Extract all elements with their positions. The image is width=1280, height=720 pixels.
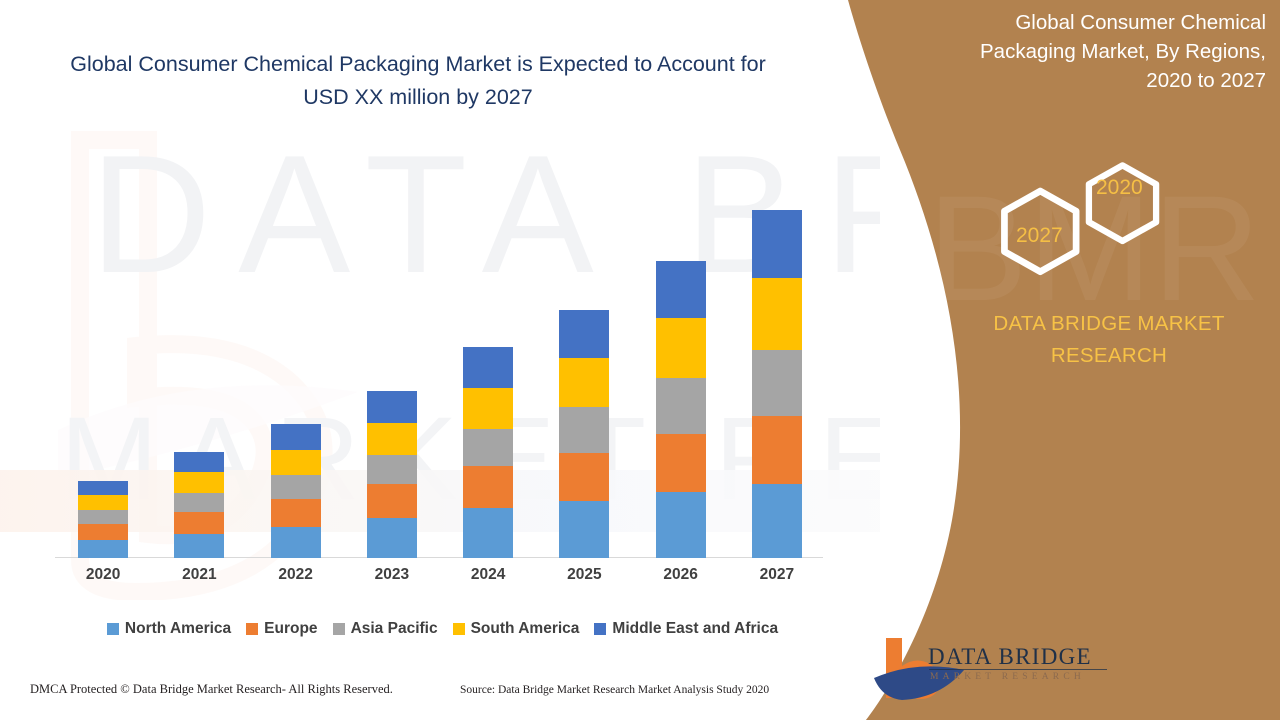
- x-axis-label: 2025: [536, 566, 632, 592]
- bar-segment: [559, 407, 609, 453]
- bar-segment: [271, 424, 321, 450]
- bar-segment: [271, 450, 321, 476]
- bar-segment: [367, 391, 417, 423]
- stacked-bar: [463, 347, 513, 558]
- logo-divider: [929, 669, 1107, 670]
- bar-segment: [367, 484, 417, 518]
- stacked-bar: [78, 481, 128, 558]
- bar-column: [633, 170, 729, 558]
- slide-canvas: DATA BRIDGE MARKET RESEARCH DBMR Global …: [0, 0, 1280, 720]
- bar-segment: [367, 518, 417, 558]
- bar-segment: [271, 475, 321, 499]
- logo-wordmark: DATA BRIDGE: [928, 644, 1128, 670]
- bar-column: [151, 170, 247, 558]
- legend-swatch-icon: [453, 623, 465, 635]
- bar-segment: [78, 481, 128, 495]
- legend-label: North America: [125, 620, 231, 638]
- bar-column: [536, 170, 632, 558]
- x-axis-label: 2027: [729, 566, 825, 592]
- x-axis-label: 2022: [248, 566, 344, 592]
- bar-segment: [78, 495, 128, 510]
- bar-segment: [463, 429, 513, 467]
- x-axis-label: 2021: [151, 566, 247, 592]
- x-axis-label: 2024: [440, 566, 536, 592]
- legend-item[interactable]: Europe: [246, 620, 317, 638]
- panel-brand-name: DATA BRIDGE MARKET RESEARCH: [974, 308, 1244, 372]
- hexagons-icon: [985, 150, 1185, 290]
- stacked-bar: [559, 310, 609, 558]
- bar-segment: [367, 423, 417, 455]
- bar-segment: [559, 310, 609, 358]
- bar-segment: [271, 499, 321, 527]
- legend-swatch-icon: [333, 623, 345, 635]
- hexagon-group: 2020 2027: [985, 150, 1185, 290]
- legend-item[interactable]: Asia Pacific: [333, 620, 438, 638]
- logo-tagline: MARKET RESEARCH: [930, 672, 1120, 682]
- x-axis-label: 2023: [344, 566, 440, 592]
- bar-segment: [367, 455, 417, 485]
- bar-column: [344, 170, 440, 558]
- bar-segment: [174, 493, 224, 512]
- legend-label: South America: [471, 620, 580, 638]
- stacked-bar: [752, 210, 802, 558]
- footer-source: Source: Data Bridge Market Research Mark…: [460, 684, 769, 696]
- x-axis-label: 2026: [633, 566, 729, 592]
- x-axis-label: 2020: [55, 566, 151, 592]
- stacked-bar: [656, 261, 706, 558]
- legend-swatch-icon: [246, 623, 258, 635]
- bar-segment: [559, 358, 609, 407]
- bar-segment: [271, 527, 321, 558]
- bar-segment: [656, 434, 706, 493]
- bar-segment: [78, 510, 128, 524]
- chart-title: Global Consumer Chemical Packaging Marke…: [62, 48, 774, 113]
- bar-column: [248, 170, 344, 558]
- stacked-bar: [367, 391, 417, 558]
- bar-segment: [559, 453, 609, 502]
- hexagon-label-2027: 2027: [1016, 224, 1063, 248]
- bar-segment: [656, 378, 706, 434]
- bar-column: [55, 170, 151, 558]
- bar-segment: [78, 540, 128, 558]
- bar-segment: [752, 484, 802, 558]
- panel-title: Global Consumer Chemical Packaging Marke…: [954, 8, 1266, 95]
- bar-segment: [752, 416, 802, 485]
- legend-item[interactable]: South America: [453, 620, 580, 638]
- legend-swatch-icon: [594, 623, 606, 635]
- chart-region: Global Consumer Chemical Packaging Marke…: [0, 0, 880, 720]
- legend-item[interactable]: North America: [107, 620, 231, 638]
- stacked-bar: [271, 424, 321, 558]
- legend-item[interactable]: Middle East and Africa: [594, 620, 778, 638]
- bar-column: [729, 170, 825, 558]
- bar-segment: [174, 534, 224, 558]
- stacked-bar-series: [55, 170, 825, 558]
- legend-swatch-icon: [107, 623, 119, 635]
- legend-label: Asia Pacific: [351, 620, 438, 638]
- bar-segment: [463, 466, 513, 508]
- bar-segment: [463, 347, 513, 388]
- bar-segment: [174, 472, 224, 493]
- bar-segment: [463, 388, 513, 429]
- bar-segment: [78, 524, 128, 540]
- x-axis-tick-labels: 20202021202220232024202520262027: [55, 566, 825, 592]
- bar-segment: [174, 452, 224, 473]
- legend-label: Europe: [264, 620, 317, 638]
- bar-segment: [174, 512, 224, 534]
- bar-segment: [752, 350, 802, 416]
- legend-label: Middle East and Africa: [612, 620, 778, 638]
- bar-segment: [752, 210, 802, 279]
- footer-copyright: DMCA Protected © Data Bridge Market Rese…: [30, 682, 393, 697]
- stacked-bar: [174, 452, 224, 558]
- bar-column: [440, 170, 536, 558]
- chart-legend: North AmericaEuropeAsia PacificSouth Ame…: [55, 617, 830, 641]
- bar-segment: [656, 318, 706, 378]
- bar-segment: [656, 261, 706, 319]
- hexagon-label-2020: 2020: [1096, 176, 1143, 200]
- bar-segment: [463, 508, 513, 558]
- bar-segment: [559, 501, 609, 558]
- bar-segment: [656, 492, 706, 558]
- bar-segment: [752, 278, 802, 350]
